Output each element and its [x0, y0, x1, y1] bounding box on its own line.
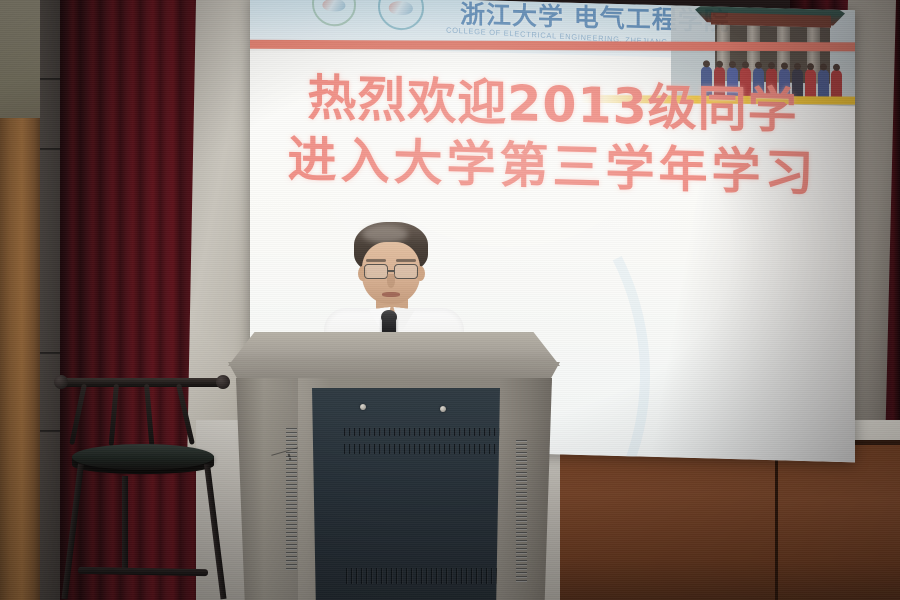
stool-leg [61, 464, 84, 600]
photograph-scene: 浙江大学 电气工程学院 COLLEGE OF ELECTRICAL ENGINE… [0, 0, 900, 600]
speaker-mouth [382, 292, 400, 297]
wood-pillar [0, 118, 40, 600]
stool-rail-cap [216, 375, 230, 389]
wood-wall-panel [778, 440, 900, 600]
speaker-eyebrow [366, 259, 386, 262]
lectern-vent-row [346, 568, 513, 584]
stool-seat [72, 444, 214, 470]
eyeglasses-icon [364, 264, 388, 279]
stool-footrest [78, 567, 208, 576]
lectern-vent-row [344, 444, 511, 454]
lectern-side-vent [516, 440, 527, 582]
speaker-eyebrow [396, 259, 416, 262]
speaker-nose [387, 274, 395, 288]
lectern-top-edge [228, 362, 560, 380]
lectern-top-surface [228, 332, 560, 366]
stool-back-spoke [176, 383, 195, 445]
bar-stool [52, 372, 232, 600]
lectern [228, 332, 560, 600]
stool-rail-cap [54, 375, 68, 389]
university-seal-logo [312, 0, 356, 27]
lectern-screw [360, 404, 366, 410]
lectern-side-vent [286, 428, 297, 570]
eyeglasses-icon [394, 264, 418, 279]
speaker-hair-highlight [362, 225, 408, 243]
stool-back-spoke [109, 384, 119, 446]
lectern-screw [440, 406, 446, 412]
stool-leg [204, 464, 227, 600]
lectern-front-panel [312, 388, 500, 600]
eyeglasses-bridge [387, 270, 395, 272]
lectern-vent-row [344, 428, 511, 436]
stool-back-spoke [69, 383, 87, 445]
college-emblem-logo [378, 0, 424, 31]
stool-center-post [122, 476, 128, 572]
stool-back-spoke [144, 384, 154, 446]
